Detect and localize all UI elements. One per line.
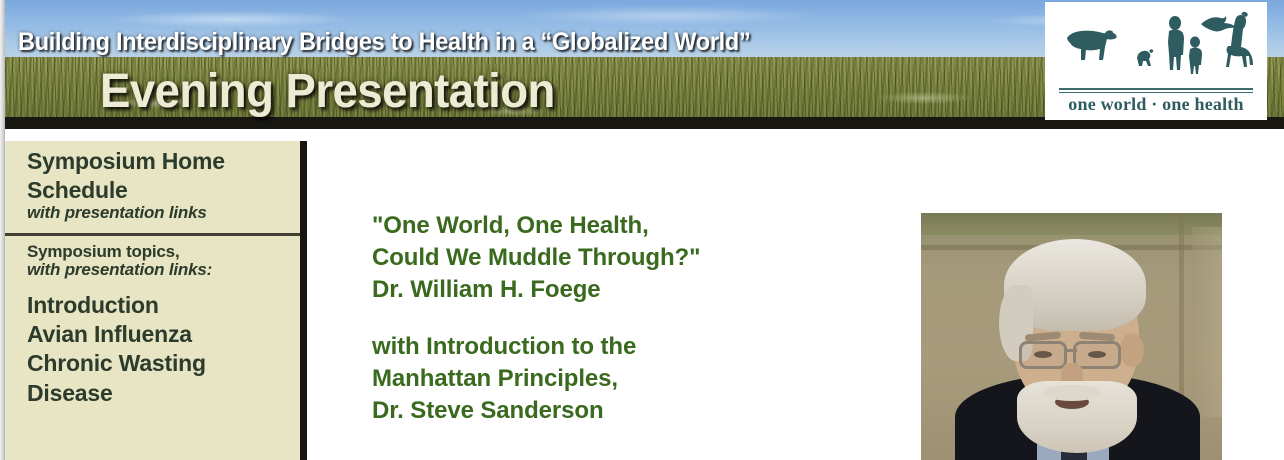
site-banner: Building Interdisciplinary Bridges to He… [0,0,1284,129]
sidebar-topics-heading-line2: with presentation links: [27,260,300,280]
talk-intro-speaker: Dr. Steve Sanderson [372,395,700,427]
photo-eyeglass-lens-left [1019,341,1067,369]
sidebar-navigation: Symposium Home Schedule with presentatio… [5,141,307,460]
sidebar-item-chronic-wasting-disease-line2[interactable]: Disease [27,379,300,408]
photo-ear [1120,333,1144,367]
photo-eyeglass-bridge [1065,349,1077,352]
sidebar-item-symposium-home[interactable]: Symposium Home [27,147,300,176]
talk-intro-line1: with Introduction to the [372,331,700,363]
sidebar-item-chronic-wasting-disease[interactable]: Chronic Wasting [27,349,300,378]
sidebar-item-schedule-subtitle: with presentation links [27,203,300,223]
sidebar-item-introduction[interactable]: Introduction [27,291,300,320]
talk-speaker: Dr. William H. Foege [372,274,700,306]
window-left-gutter [0,0,5,460]
talk-title-line1: "One World, One Health, [372,210,700,242]
presentation-details: "One World, One Health, Could We Muddle … [372,210,700,426]
photo-eyeglass-lens-right [1073,341,1121,369]
banner-title: Evening Presentation [100,64,555,119]
sidebar-spacer [27,279,300,291]
one-world-one-health-logo[interactable]: one world · one health [1045,2,1267,120]
sidebar-section-topics: Symposium topics, with presentation link… [5,236,300,416]
photo-wall-edge-right [1192,227,1222,417]
photo-wall-upper-band [921,213,1222,235]
photo-moustache [1043,385,1101,401]
talk-title-line2: Could We Muddle Through?" [372,242,700,274]
sidebar-section-primary: Symposium Home Schedule with presentatio… [5,141,300,231]
talk-intro-line2: Manhattan Principles, [372,363,700,395]
logo-tagline: one world · one health [1045,94,1267,115]
speaker-portrait-photo [921,213,1222,460]
sidebar-item-avian-influenza[interactable]: Avian Influenza [27,320,300,349]
banner-tagline: Building Interdisciplinary Bridges to He… [18,28,750,57]
logo-animal-silhouettes [1045,6,1267,78]
photo-wall-edge [1179,213,1184,413]
page-root: Building Interdisciplinary Bridges to He… [0,0,1284,460]
logo-divider-rule [1059,88,1253,93]
sidebar-item-schedule[interactable]: Schedule [27,176,300,205]
